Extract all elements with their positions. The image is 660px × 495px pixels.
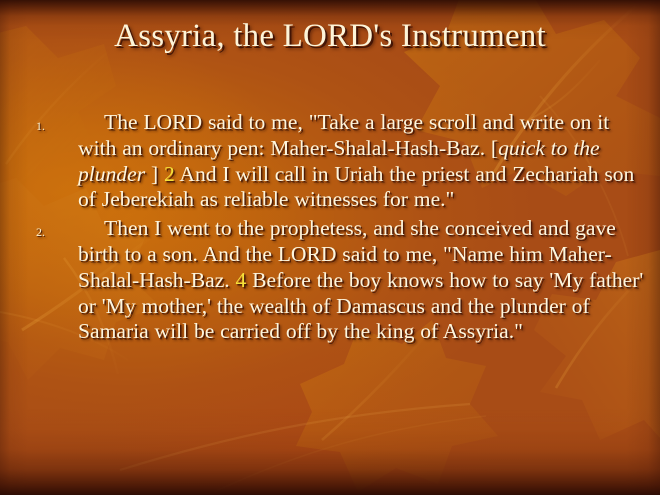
text-run: ] bbox=[145, 162, 164, 186]
slide-body-list: 1. The LORD said to me, "Take a large sc… bbox=[30, 110, 644, 348]
list-item-marker: 1. bbox=[36, 119, 62, 134]
list-item: 1. The LORD said to me, "Take a large sc… bbox=[30, 110, 644, 213]
list-item-text: The LORD said to me, "Take a large scrol… bbox=[78, 110, 644, 213]
list-item-marker: 2. bbox=[36, 225, 62, 240]
slide-title: Assyria, the LORD's Instrument bbox=[0, 18, 660, 55]
presentation-slide: Assyria, the LORD's Instrument 1. The LO… bbox=[0, 0, 660, 495]
list-item: 2. Then I went to the prophetess, and sh… bbox=[30, 216, 644, 345]
verse-number: 2 bbox=[164, 162, 175, 186]
verse-number: 4 bbox=[236, 268, 247, 292]
list-item-text: Then I went to the prophetess, and she c… bbox=[78, 216, 644, 345]
